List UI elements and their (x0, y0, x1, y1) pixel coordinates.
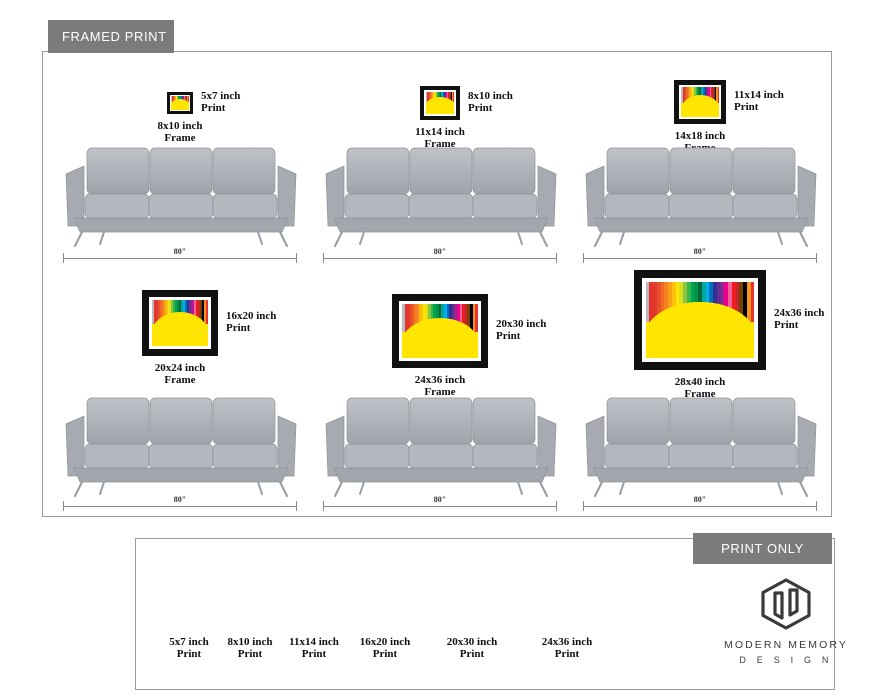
pencil-artwork (426, 92, 454, 114)
print-size-line2: Print (201, 102, 240, 114)
dimension-bar (583, 506, 817, 507)
print-size-line1: 11x14 inch (734, 89, 784, 101)
dimension-cap-right (816, 501, 817, 511)
sofa-width-value: 80" (689, 247, 711, 256)
print-size-line2: Print (734, 101, 784, 113)
print-only-artwork-6 (497, 528, 637, 632)
print-only-size-line1: 24x36 inch (542, 636, 592, 648)
sofa-width-value: 80" (169, 495, 191, 504)
sofa-illustration (580, 390, 820, 498)
dimension-bar (323, 506, 557, 507)
print-only-artwork-1 (178, 615, 200, 632)
framed-artwork-3 (674, 80, 726, 124)
dimension-cap-left (583, 501, 584, 511)
print-size-label: 16x20 inchPrint (226, 310, 276, 335)
pencil-artwork (171, 96, 188, 109)
framed-print-tab: FRAMED PRINT (48, 20, 174, 53)
pencil-artwork (681, 87, 719, 117)
dimension-cap-left (63, 253, 64, 263)
dimension-cap-left (323, 501, 324, 511)
print-size-line1: 16x20 inch (226, 310, 276, 322)
sofa-illustration (320, 140, 560, 248)
dimension-cap-right (816, 253, 817, 263)
sofa-width-value: 80" (169, 247, 191, 256)
frame-mat (642, 278, 758, 362)
print-only-size-line1: 20x30 inch (447, 636, 497, 648)
logo-mark-icon (758, 578, 814, 630)
pencil-artwork (152, 300, 208, 346)
frame-size-line1: 20x24 inch (155, 362, 205, 374)
print-size-label: 24x36 inchPrint (774, 307, 824, 332)
print-size-label: 8x10 inchPrint (468, 90, 513, 115)
print-size-line2: Print (226, 322, 276, 334)
sofa-illustration (60, 390, 300, 498)
sofa-width-dimension: 80" (63, 248, 297, 262)
frame-mat (679, 85, 721, 119)
dimension-cap-left (63, 501, 64, 511)
print-size-line1: 8x10 inch (468, 90, 513, 102)
logo-name: MODERN MEMORY (724, 639, 848, 651)
framed-print-tab-label: FRAMED PRINT (62, 29, 167, 44)
frame-mat (399, 301, 481, 361)
brand-logo: MODERN MEMORY D E S I G N (706, 578, 866, 673)
print-only-tab-label: PRINT ONLY (721, 541, 804, 556)
sofa-width-value: 80" (429, 247, 451, 256)
frame-mat (424, 90, 456, 116)
frame-size-label: 20x24 inchFrame (120, 362, 240, 387)
dimension-cap-right (556, 501, 557, 511)
frame-mat (170, 95, 190, 111)
sofa-width-dimension: 80" (583, 496, 817, 510)
framed-artwork-1 (167, 92, 193, 114)
frame-size-line1: 24x36 inch (415, 374, 465, 386)
print-only-size-line2: Print (507, 648, 627, 660)
sofa-width-dimension: 80" (323, 496, 557, 510)
frame-size-line1: 8x10 inch (158, 120, 203, 132)
frame-size-line2: Frame (120, 374, 240, 386)
logo-subtitle: D E S I G N (739, 655, 832, 665)
print-size-label: 20x30 inchPrint (496, 318, 546, 343)
dimension-bar (583, 258, 817, 259)
sofa-width-value: 80" (429, 495, 451, 504)
print-size-line1: 5x7 inch (201, 90, 240, 102)
pencil-arc-mask (171, 99, 188, 105)
print-only-size-line1: 16x20 inch (360, 636, 410, 648)
dimension-cap-right (556, 253, 557, 263)
pencil-artwork (402, 304, 478, 358)
print-size-line2: Print (468, 102, 513, 114)
dimension-bar (323, 258, 557, 259)
print-only-artwork-3 (288, 592, 340, 632)
frame-size-line1: 28x40 inch (675, 376, 725, 388)
dimension-bar (63, 258, 297, 259)
frame-size-line1: 11x14 inch (415, 126, 465, 138)
framed-artwork-2 (420, 86, 460, 120)
print-size-line1: 20x30 inch (496, 318, 546, 330)
framed-artwork-5 (392, 294, 488, 368)
print-only-artwork-4 (349, 576, 421, 632)
dimension-cap-right (296, 501, 297, 511)
sofa-illustration (580, 140, 820, 248)
sofa-illustration (60, 140, 300, 248)
sofa-illustration (320, 390, 560, 498)
print-size-label: 5x7 inchPrint (201, 90, 240, 115)
sofa-width-dimension: 80" (583, 248, 817, 262)
dimension-cap-right (296, 253, 297, 263)
print-size-label: 11x14 inchPrint (734, 89, 784, 114)
print-size-line1: 24x36 inch (774, 307, 824, 319)
size-comparison-chart: FRAMED PRINT PRINT ONLY 5x7 inchPrint8x1… (0, 0, 875, 700)
print-only-size-label: 24x36 inchPrint (507, 636, 627, 661)
sofa-width-dimension: 80" (323, 248, 557, 262)
dimension-cap-left (583, 253, 584, 263)
dimension-cap-left (323, 253, 324, 263)
framed-artwork-4 (142, 290, 218, 356)
print-only-tab: PRINT ONLY (693, 533, 832, 564)
sofa-width-value: 80" (689, 495, 711, 504)
frame-mat (149, 297, 211, 349)
dimension-bar (63, 506, 297, 507)
framed-artwork-6 (634, 270, 766, 370)
pencil-artwork (646, 282, 755, 359)
sofa-width-dimension: 80" (63, 496, 297, 510)
print-only-artwork-2 (230, 601, 270, 632)
print-size-line2: Print (496, 330, 546, 342)
print-size-line2: Print (774, 319, 824, 331)
